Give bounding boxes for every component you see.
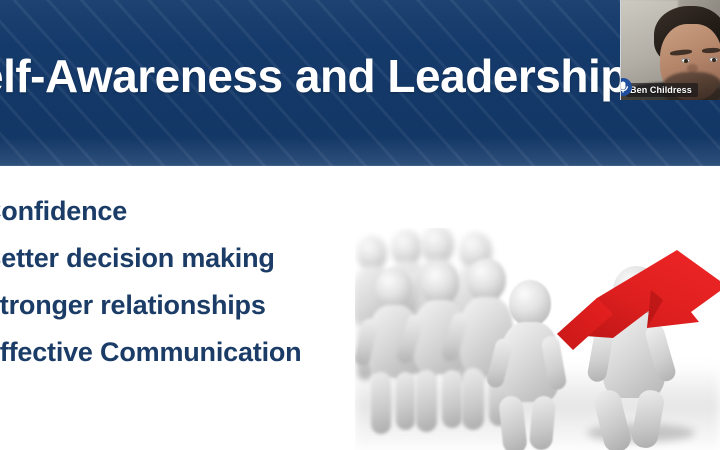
list-item: Stronger relationships [0, 292, 362, 319]
mic-icon [620, 76, 637, 96]
slide-bullet-list: Confidence Better decision making Strong… [0, 198, 362, 386]
participant-brow [702, 48, 720, 54]
participant-brow [670, 49, 692, 56]
self-view-video-tile[interactable]: Ben Childress [620, 0, 720, 100]
participant-eye [709, 57, 718, 62]
red-arrow-graphic [551, 246, 720, 366]
list-item: Confidence [0, 198, 362, 225]
slide-title: elf-Awareness and Leadership [0, 52, 720, 100]
participant-eye [681, 58, 690, 63]
leadership-clipart-image [355, 228, 720, 450]
list-item: Better decision making [0, 245, 362, 272]
list-item: Effective Communication [0, 339, 362, 366]
presentation-viewport: elf-Awareness and Leadership Confidence … [0, 0, 720, 450]
slide-header-band: elf-Awareness and Leadership [0, 0, 720, 166]
participant-name-badge: Ben Childress [626, 83, 698, 97]
participant-name-label: Ben Childress [630, 85, 692, 95]
